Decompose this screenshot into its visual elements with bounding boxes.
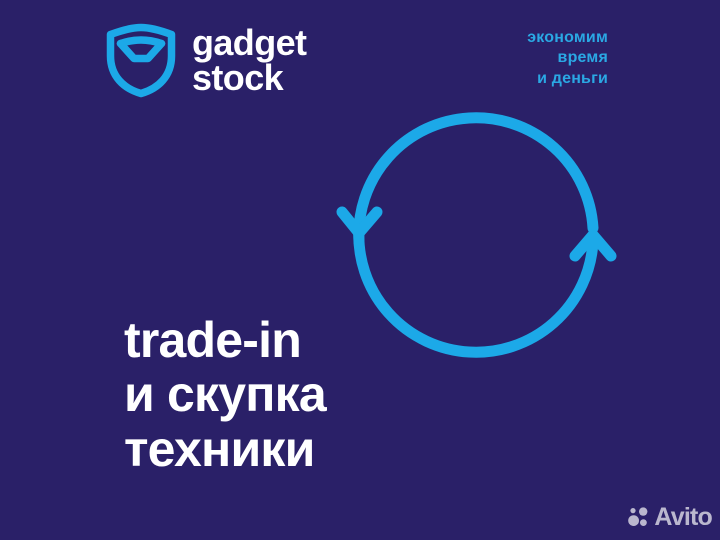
tagline: экономим время и деньги	[527, 28, 608, 89]
avito-label: Avito	[654, 503, 712, 532]
avito-dots-icon	[628, 507, 649, 528]
brand-wordmark: gadget stock	[192, 25, 306, 96]
tagline-line-3: и деньги	[527, 69, 608, 89]
cycle-arrows-icon	[330, 96, 622, 378]
wordmark-line-2: stock	[192, 60, 306, 95]
tagline-line-1: экономим	[527, 28, 608, 48]
wordmark-line-1: gadget	[192, 25, 306, 60]
headline-line-3: техники	[124, 422, 326, 476]
arc-bottom	[359, 228, 593, 352]
page-title: trade-in и скупка техники	[124, 313, 326, 476]
headline-line-2: и скупка	[124, 367, 326, 421]
shield-logo-icon	[104, 22, 178, 98]
brand-logo-lockup: gadget stock	[104, 22, 306, 98]
avito-watermark: Avito	[628, 503, 712, 532]
promo-poster: gadget stock экономим время и деньги tra…	[0, 0, 720, 540]
arc-top	[359, 118, 593, 242]
headline-line-1: trade-in	[124, 313, 326, 367]
tagline-line-2: время	[527, 48, 608, 68]
